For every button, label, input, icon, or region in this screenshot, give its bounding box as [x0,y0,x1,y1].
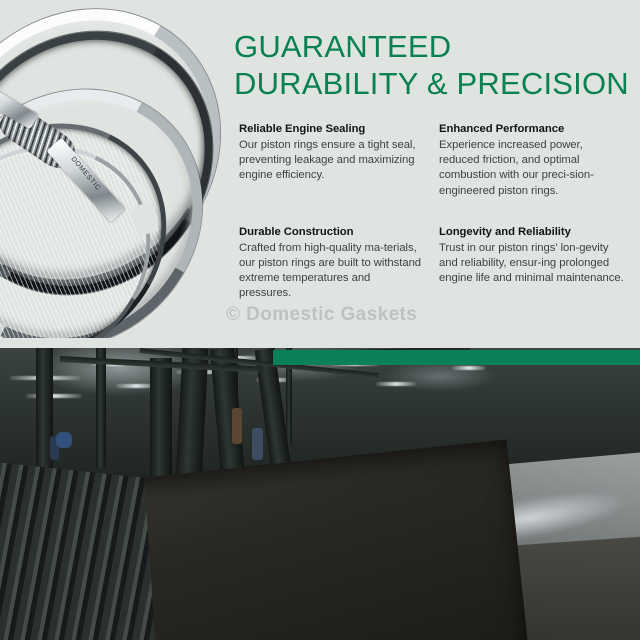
feature-title: Longevity and Reliability [439,225,624,240]
ceiling-lamp [26,394,82,398]
poster-canvas: DOMESTIC GUARANTEED DURABILITY & PRECISI… [0,0,640,640]
headline-line-2: DURABILITY & PRECISION [234,65,634,102]
conveyor-chain [0,459,158,640]
feature-title: Reliable Engine Sealing [239,122,424,137]
feature-body: Our piston rings ensure a tight seal, pr… [239,138,424,184]
feature-grid: Reliable Engine Sealing Our piston rings… [239,122,633,302]
ceiling-lamp [452,366,486,370]
page-title: GUARANTEED DURABILITY & PRECISION [234,28,634,102]
top-content-panel: DOMESTIC GUARANTEED DURABILITY & PRECISI… [0,0,640,348]
feature-body: Crafted from high-quality ma-terials, ou… [239,241,424,302]
factory-column [96,348,106,468]
headline-line-1: GUARANTEED [234,29,451,64]
feature-body: Trust in our piston rings' lon-gevity an… [439,241,624,287]
feature-item-longevity-and-reliability: Longevity and Reliability Trust in our p… [439,225,624,302]
worker-figure [56,432,72,448]
feature-item-reliable-engine-sealing: Reliable Engine Sealing Our piston rings… [239,122,424,199]
worker-figure [232,408,242,444]
watermark: © Domestic Gaskets [226,304,417,326]
feature-title: Durable Construction [239,225,424,240]
factory-photo: 15 [0,348,640,640]
ceiling-lamp [376,382,416,386]
green-accent-bar [273,350,640,365]
feature-item-durable-construction: Durable Construction Crafted from high-q… [239,225,424,302]
feature-item-enhanced-performance: Enhanced Performance Experience increase… [439,122,624,199]
feature-body: Experience increased power, reduced fric… [439,138,624,199]
worker-figure [252,428,263,460]
piston-rings-image: DOMESTIC [0,8,232,338]
feature-title: Enhanced Performance [439,122,624,137]
